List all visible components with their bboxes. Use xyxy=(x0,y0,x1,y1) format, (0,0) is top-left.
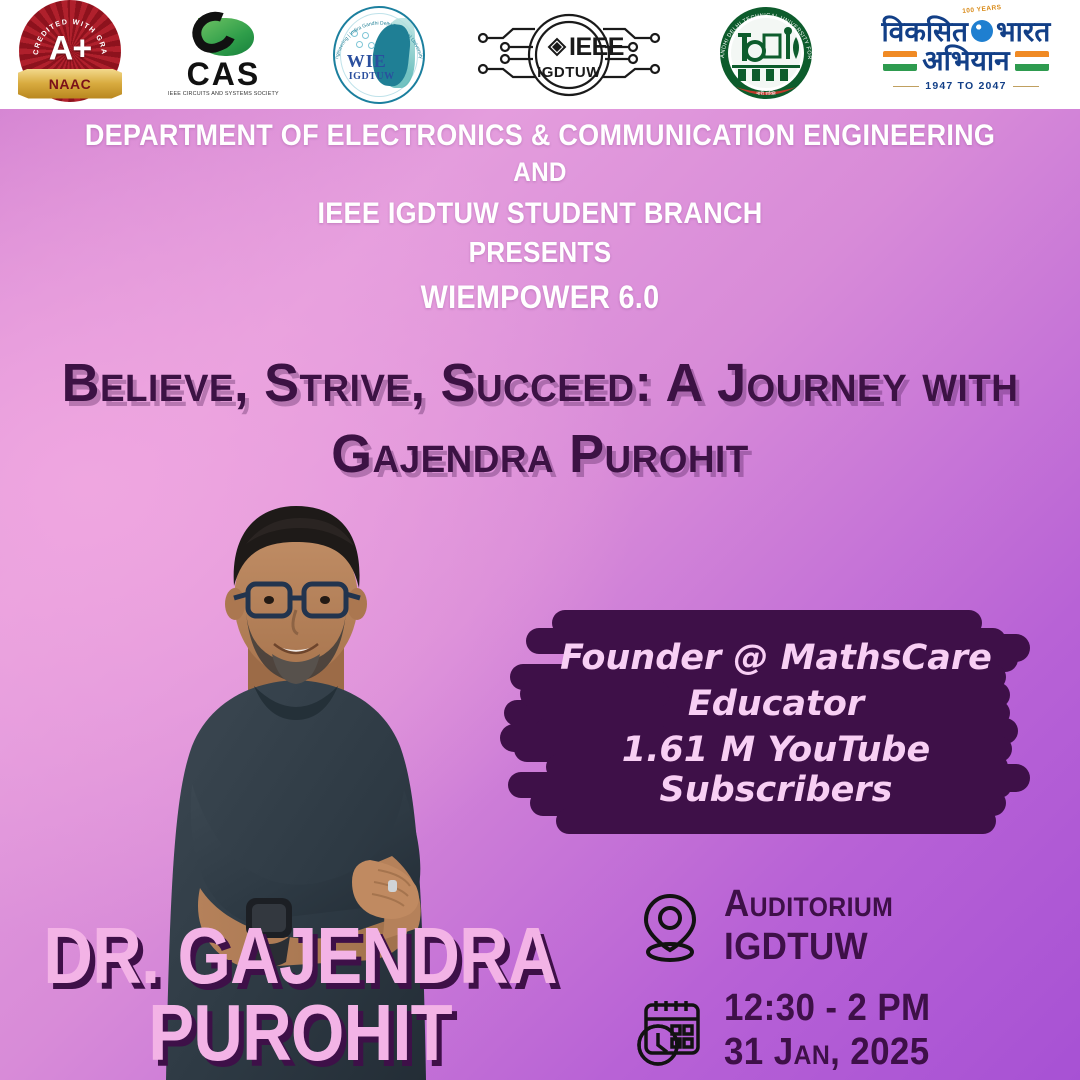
tricolour-right-icon xyxy=(1015,51,1049,71)
naac-ribbon: NAAC xyxy=(18,69,122,99)
event-time: 12:30 - 2 PM xyxy=(724,987,930,1030)
location-pin-icon xyxy=(634,884,706,968)
cas-subtitle: IEEE CIRCUITS AND SYSTEMS SOCIETY xyxy=(168,91,279,97)
venue-row: Auditorium IGDTUW xyxy=(634,883,1034,970)
vb-years-row: 1947 TO 2047 xyxy=(893,80,1038,92)
speaker-name: DR. GAJENDRA PUROHIT xyxy=(42,918,558,1072)
vb-line1-left: विकसित xyxy=(882,17,968,46)
event-details: Auditorium IGDTUW 12:30 - 2 PM xyxy=(634,883,1034,1074)
naac-accreditation-badge: ACCREDITED WITH GRADE A+ NAAC xyxy=(14,5,126,105)
viksit-bharat-abhiyan-logo: विकसित 100 YEARS भारत अभियान 1947 TO 204… xyxy=(866,5,1066,105)
vb-years-label: 1947 TO 2047 xyxy=(925,80,1006,92)
badge-line-educator: Educator xyxy=(688,684,864,724)
seal-motto-label: नारी शक्ति xyxy=(756,90,775,97)
header-department: DEPARTMENT OF ELECTRONICS & COMMUNICATIO… xyxy=(54,121,1026,151)
sponsor-logo-strip: ACCREDITED WITH GRADE A+ NAAC CAS IEEE C… xyxy=(0,0,1080,109)
tricolour-left-icon xyxy=(883,51,917,71)
schedule-row: 12:30 - 2 PM 31 Jan, 2025 xyxy=(634,987,1034,1074)
calendar-clock-icon xyxy=(634,989,706,1073)
badge-line-subscribers: 1.61 M YouTube Subscribers xyxy=(500,730,1052,810)
wie-ring-label: Women In Engineering | Indira Gandhi Del… xyxy=(330,3,424,60)
speaker-name-line2: PUROHIT xyxy=(42,995,558,1072)
header-and: AND xyxy=(54,151,1026,195)
ieee-branch-label: IGDTUW xyxy=(537,64,601,81)
speaker-credentials-badge: Founder @ MathsCare Educator 1.61 M YouT… xyxy=(500,604,1052,844)
venue-line2: IGDTUW xyxy=(724,926,893,969)
naac-grade-label: A+ xyxy=(49,29,91,68)
vb-line2: अभियान xyxy=(922,46,1009,75)
event-date: 31 Jan, 2025 xyxy=(724,1031,930,1074)
event-poster: ACCREDITED WITH GRADE A+ NAAC CAS IEEE C… xyxy=(0,0,1080,1080)
ieee-cas-logo: CAS IEEE CIRCUITS AND SYSTEMS SOCIETY xyxy=(162,5,284,105)
badge-line-founder: Founder @ MathsCare xyxy=(560,638,992,678)
ieee-igdtuw-student-branch-logo: IEEE IGDTUW xyxy=(473,7,665,103)
header-event-name: WIEMPOWER 6.0 xyxy=(54,274,1026,320)
cas-wordmark: CAS xyxy=(187,60,261,89)
schedule-text: 12:30 - 2 PM 31 Jan, 2025 xyxy=(724,987,930,1074)
naac-ribbon-label: NAAC xyxy=(49,76,91,92)
cas-mark-icon xyxy=(190,12,256,58)
vb-line1-right: भारत xyxy=(996,17,1050,46)
poster-header: DEPARTMENT OF ELECTRONICS & COMMUNICATIO… xyxy=(0,121,1080,320)
globe-icon: 100 YEARS xyxy=(971,20,993,42)
ieee-wie-igdtuw-logo: WIE IGDTUW Women In Engineering | Indira… xyxy=(321,5,437,105)
ieee-wordmark: IEEE xyxy=(569,33,624,61)
wie-ring-text-icon: Women In Engineering | Indira Gandhi Del… xyxy=(330,3,428,107)
header-student-branch: IEEE IGDTUW STUDENT BRANCH xyxy=(54,195,1026,233)
igdtuw-university-seal: INDIRA GANDHI DELHI TECHNICAL UNIVERSITY… xyxy=(702,3,830,107)
header-presents: PRESENTS xyxy=(54,233,1026,274)
venue-line1: Auditorium xyxy=(724,883,893,926)
svg-text:Women In Engineering | Indira: Women In Engineering | Indira Gandhi Del… xyxy=(330,3,424,60)
speaker-name-line1: DR. GAJENDRA xyxy=(42,918,558,995)
ieee-diamond-icon xyxy=(549,39,565,55)
venue-text: Auditorium IGDTUW xyxy=(724,883,893,970)
page-title: Believe, Strive, Succeed: A Journey with… xyxy=(16,348,1064,491)
